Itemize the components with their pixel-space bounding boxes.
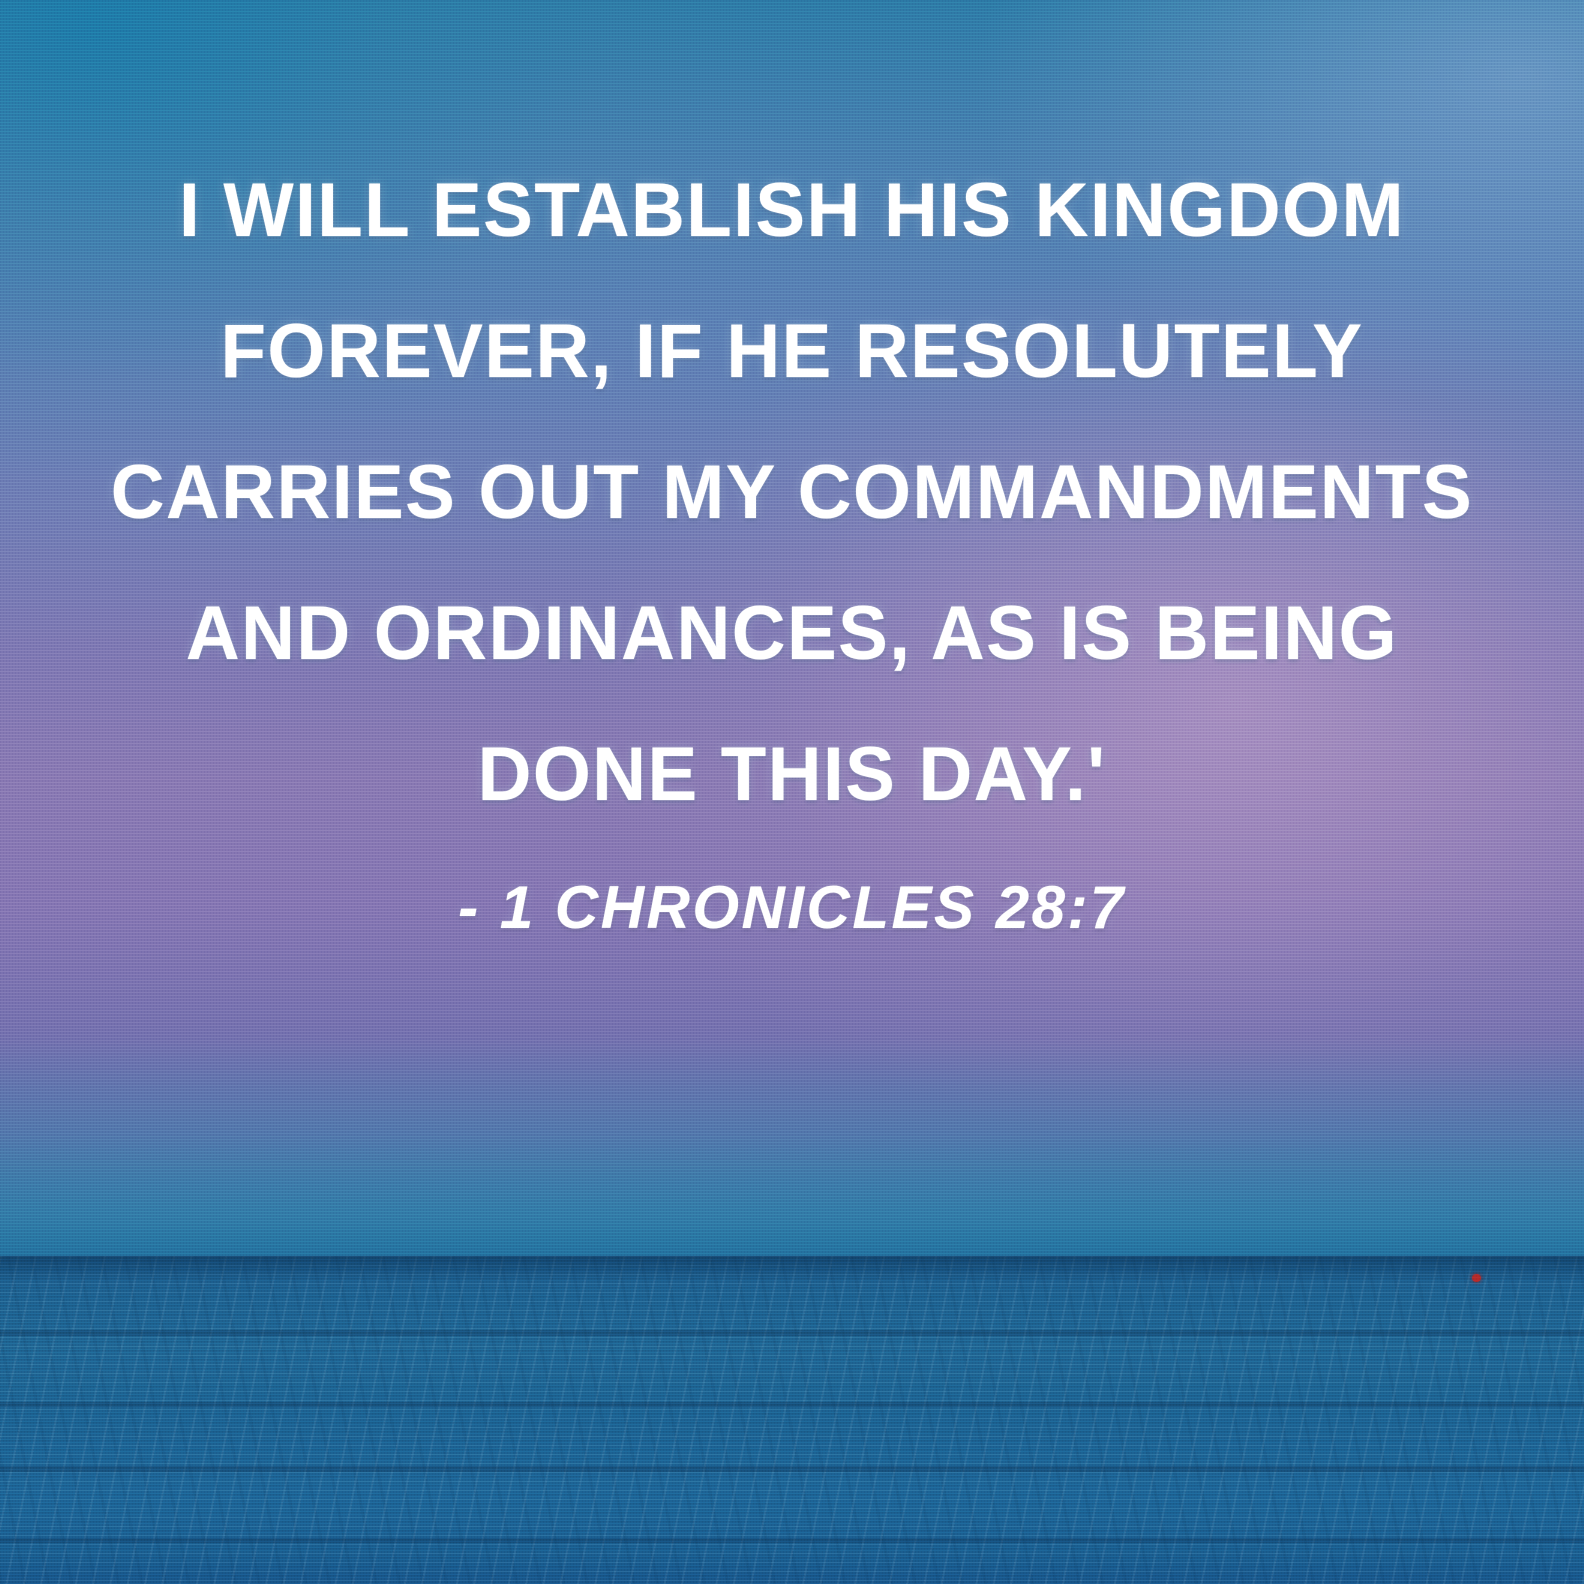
verse-line: I WILL ESTABLISH HIS KINGDOM <box>16 140 1568 281</box>
sky-horizon-glow <box>0 1040 1584 1256</box>
red-buoy-marker <box>1472 1274 1481 1282</box>
verse-text-block: I WILL ESTABLISH HIS KINGDOM FOREVER, IF… <box>0 140 1584 845</box>
sea-sparkle-texture <box>0 1256 1584 1584</box>
verse-attribution: - 1 CHRONICLES 28:7 <box>0 866 1584 950</box>
verse-line: FOREVER, IF HE RESOLUTELY <box>16 281 1568 422</box>
verse-line: AND ORDINANCES, AS IS BEING <box>16 563 1568 704</box>
verse-line: DONE THIS DAY.' <box>16 704 1568 845</box>
verse-image-canvas: I WILL ESTABLISH HIS KINGDOM FOREVER, IF… <box>0 0 1584 1584</box>
horizon-line <box>0 1256 1584 1282</box>
verse-line: CARRIES OUT MY COMMANDMENTS <box>16 422 1568 563</box>
